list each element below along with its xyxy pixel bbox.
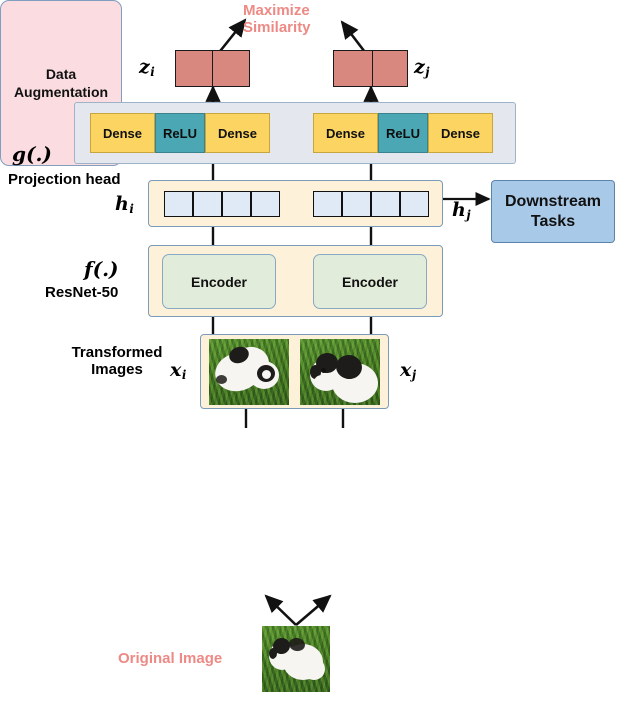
h-cell	[251, 191, 280, 217]
z-block-right	[333, 50, 408, 87]
h-cell	[164, 191, 193, 217]
maximize-similarity-label: Maximize Similarity	[243, 2, 363, 37]
dense-block-right-1: Dense	[313, 113, 378, 153]
h-label-right: hj	[452, 200, 471, 223]
h-cell	[222, 191, 251, 217]
projection-head-label: Projection head	[8, 171, 121, 188]
original-image-label: Original Image	[118, 650, 222, 667]
encoder-name-label: ResNet-50	[45, 284, 118, 301]
h-cell	[371, 191, 400, 217]
encoder-box-right: Encoder	[313, 254, 427, 309]
dense-block-left-2: Dense	[205, 113, 270, 153]
x-label-right: xj	[400, 360, 416, 383]
z-block-left	[175, 50, 250, 87]
z-label-left: zi	[139, 57, 155, 80]
h-vector-left	[164, 191, 280, 217]
encoder-box-left: Encoder	[162, 254, 276, 309]
h-vector-right	[313, 191, 429, 217]
transformed-image-xi	[209, 339, 289, 405]
transformed-image-xj	[300, 339, 380, 405]
simclr-diagram: Maximize Similarity zi zj Dense ReLU Den…	[0, 0, 622, 701]
downstream-tasks-box[interactable]: Downstream Tasks	[491, 180, 615, 243]
h-cell	[342, 191, 371, 217]
h-label-left: hi	[115, 194, 134, 217]
h-cell	[313, 191, 342, 217]
projection-fn-label: g(.)	[12, 143, 52, 166]
arrow-original-to-aug-right	[296, 596, 330, 625]
h-cell	[193, 191, 222, 217]
relu-block-left: ReLU	[155, 113, 205, 153]
dense-block-left-1: Dense	[90, 113, 155, 153]
dense-block-right-2: Dense	[428, 113, 493, 153]
transformed-images-label: Transformed Images	[52, 344, 182, 379]
relu-block-right: ReLU	[378, 113, 428, 153]
arrow-original-to-aug-left	[266, 596, 296, 625]
original-image	[262, 626, 330, 692]
h-cell	[400, 191, 429, 217]
encoder-fn-label: f(.)	[84, 258, 119, 281]
downstream-tasks-label: Downstream Tasks	[505, 192, 601, 232]
z-label-right: zj	[414, 57, 430, 80]
